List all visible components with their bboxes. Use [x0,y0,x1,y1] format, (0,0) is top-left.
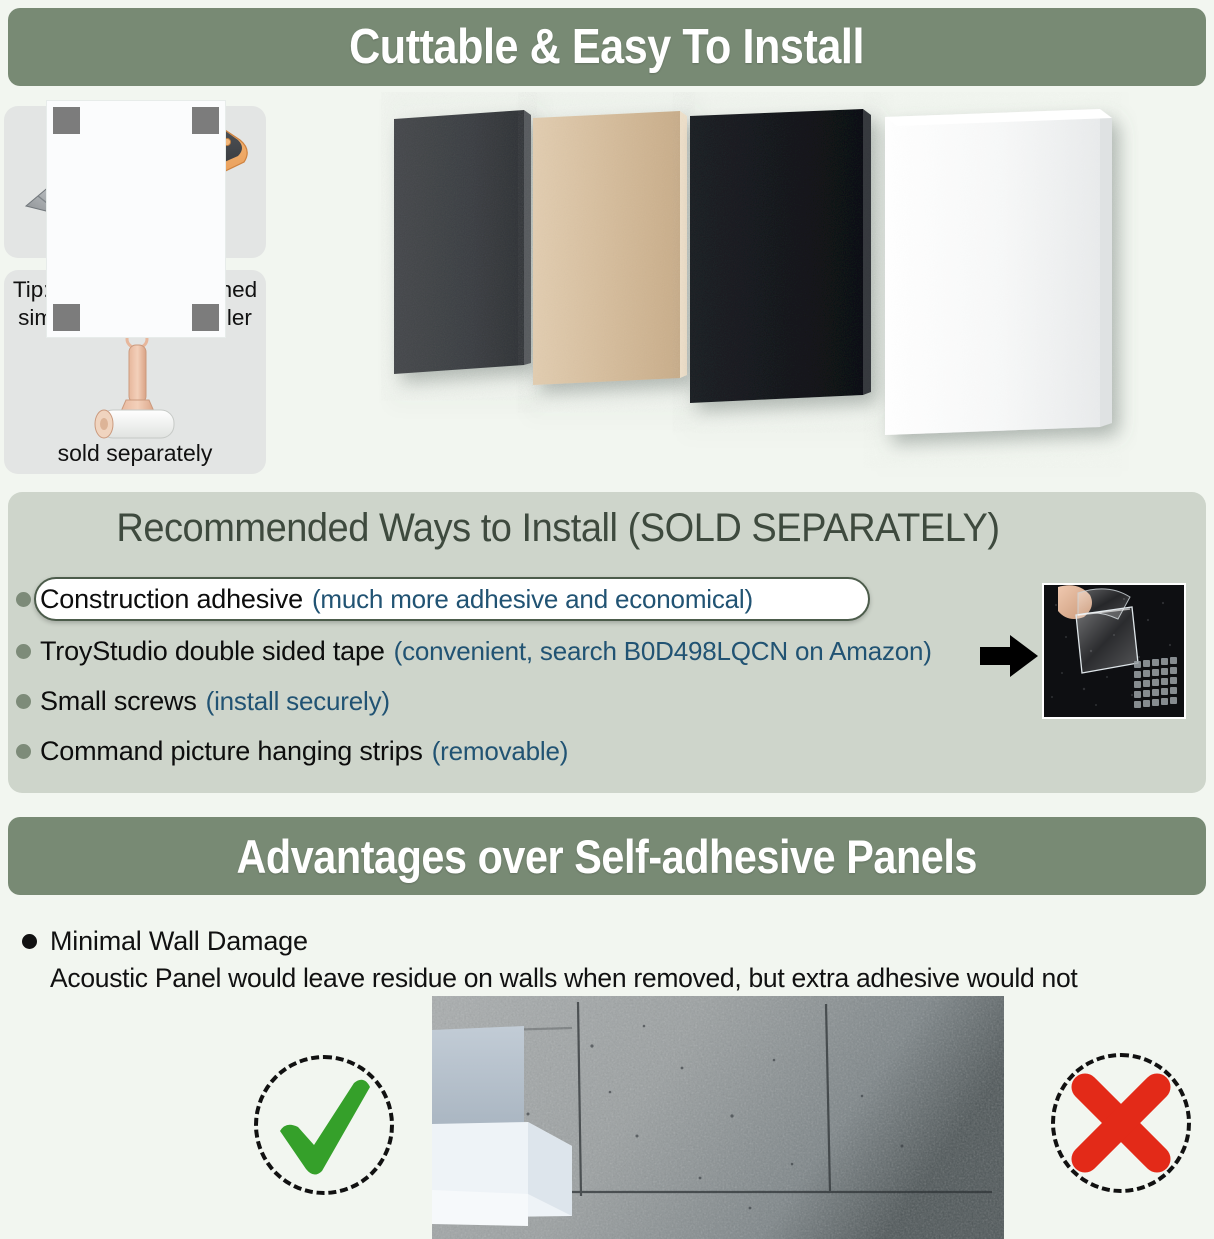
sold-separately-caption: sold separately [4,440,266,467]
clean-white-panel-image [46,100,226,338]
recommend-item-note: (much more adhesive and economical) [312,584,753,615]
red-cross-icon [1051,1053,1191,1193]
section-header-advantages: Advantages over Self-adhesive Panels [8,817,1206,895]
bullet-icon [16,744,31,759]
advantage-subtext: Acoustic Panel would leave residue on wa… [50,963,1077,994]
panel-beige [533,111,687,385]
corner-tape-icon [53,107,80,134]
section-header-advantages-text: Advantages over Self-adhesive Panels [237,829,977,884]
recommend-item-label: Command picture hanging strips [40,736,423,767]
right-arrow-icon [980,635,1038,677]
section-header-cuttable: Cuttable & Easy To Install [8,8,1206,86]
double-sided-tape-photo [1042,583,1186,719]
bullet-icon [16,644,31,659]
recommend-item-label: Small screws [40,686,197,717]
section-header-cuttable-text: Cuttable & Easy To Install [350,19,865,75]
recommend-item-label: Construction adhesive [40,584,303,615]
corner-tape-icon [192,304,219,331]
recommend-item-note: (convenient, search B0D498LQCN on Amazon… [394,636,932,667]
recommend-item-note: (removable) [432,736,569,767]
bullet-icon [16,592,31,607]
panel-white [885,109,1112,435]
corner-tape-icon [53,304,80,331]
lint-roller-icon [64,330,209,440]
recommend-item-command-strips[interactable]: Command picture hanging strips (removabl… [16,732,568,770]
corner-tape-icon [192,107,219,134]
acoustic-panels-photo [300,92,1214,490]
bullet-icon [16,694,31,709]
recommended-ways-title: Recommended Ways to Install (SOLD SEPARA… [36,506,1081,551]
recommend-item-label: TroyStudio double sided tape [40,636,385,667]
panel-black [690,109,871,403]
advantage-bullet-label: Minimal Wall Damage [50,926,308,957]
recommend-item-small-screws[interactable]: Small screws (install securely) [16,682,390,720]
panel-charcoal [394,110,531,374]
advantage-bullet-row: Minimal Wall Damage [22,926,308,957]
recommend-item-note: (install securely) [206,686,390,717]
bullet-icon [22,934,37,949]
wall-with-adhesive-residue-photo [432,996,1004,1239]
recommend-item-construction-adhesive[interactable]: Construction adhesive (much more adhesiv… [16,580,753,618]
green-check-icon [254,1055,394,1195]
recommend-item-double-sided-tape[interactable]: TroyStudio double sided tape (convenient… [16,632,932,670]
